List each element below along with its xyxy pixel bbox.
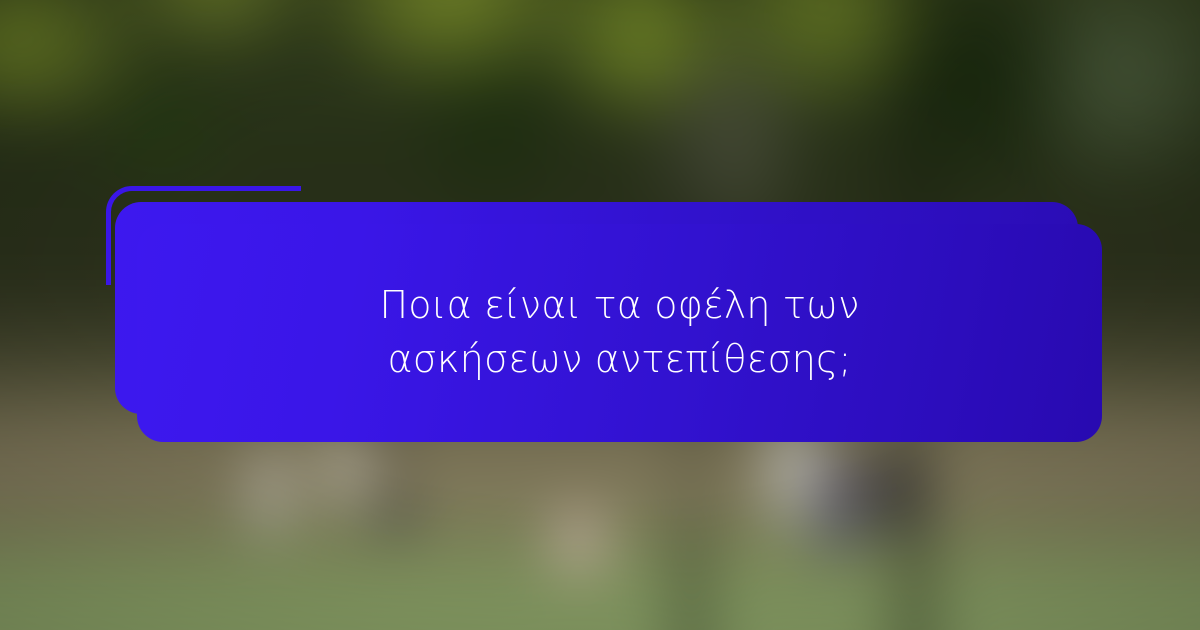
question-card: Ποια είναι τα οφέλη των ασκήσεων αντεπίθ…	[137, 224, 1102, 442]
social-card-canvas: Ποια είναι τα οφέλη των ασκήσεων αντεπίθ…	[0, 0, 1200, 630]
card-title: Ποια είναι τα οφέλη των ασκήσεων αντεπίθ…	[300, 279, 940, 387]
